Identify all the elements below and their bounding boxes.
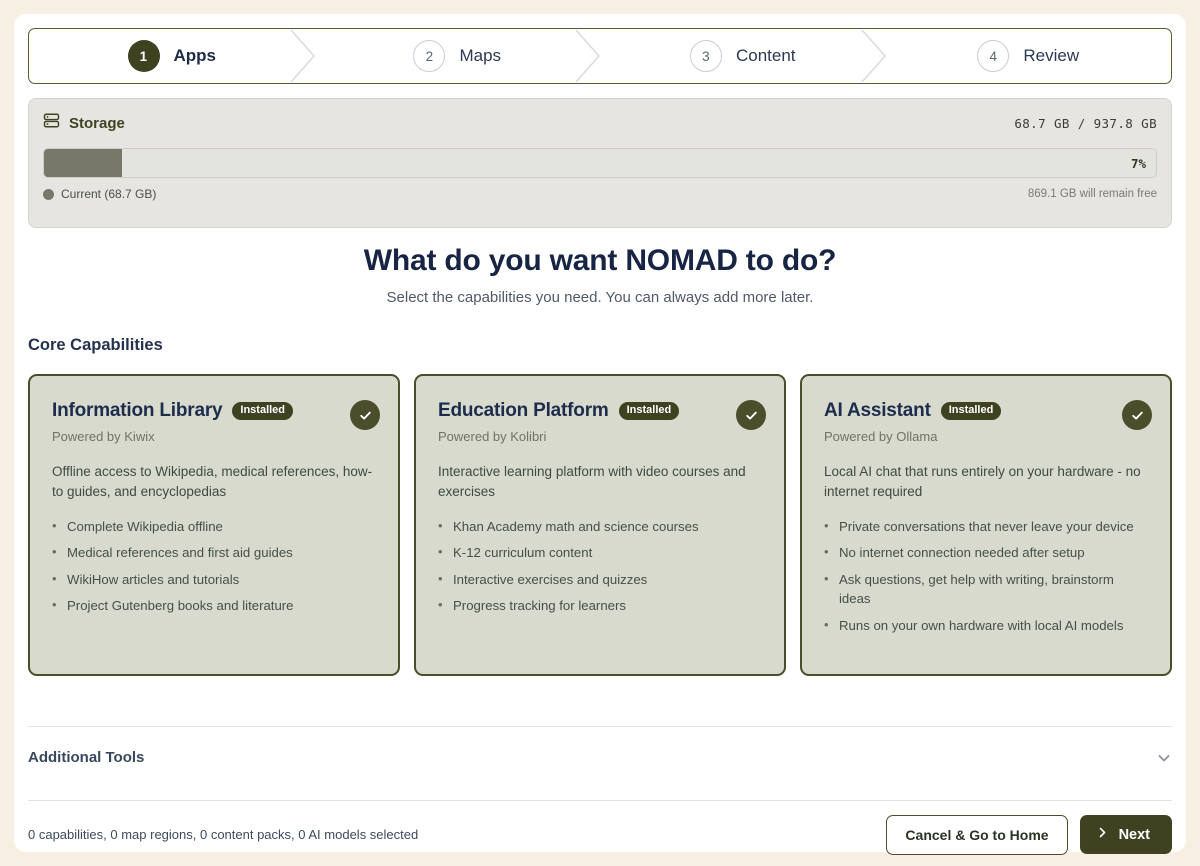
step-maps[interactable]: 2 Maps (315, 29, 601, 83)
list-item: Medical references and first aid guides (52, 543, 376, 562)
step-number-4: 4 (977, 40, 1009, 72)
storage-title-group: Storage (43, 112, 125, 134)
card-title: AI Assistant (824, 400, 931, 422)
chevron-right-icon (1096, 826, 1109, 843)
card-powered-by: Powered by Ollama (824, 429, 1148, 444)
footer-actions: Cancel & Go to Home Next (886, 815, 1172, 855)
additional-tools-accordion[interactable]: Additional Tools (28, 726, 1172, 788)
capability-card-information-library[interactable]: Information Library Installed Powered by… (28, 374, 400, 676)
storage-legend-current: Current (68.7 GB) (43, 187, 156, 201)
list-item: No internet connection needed after setu… (824, 543, 1148, 562)
card-feature-list: Khan Academy math and science courses K-… (438, 517, 762, 616)
list-item: Progress tracking for learners (438, 596, 762, 615)
step-content[interactable]: 3 Content (600, 29, 886, 83)
storage-capacity-text: 68.7 GB / 937.8 GB (1014, 116, 1157, 131)
next-button[interactable]: Next (1080, 815, 1172, 854)
storage-progress-fill (44, 149, 122, 177)
selected-check-icon[interactable] (736, 400, 766, 430)
list-item: Interactive exercises and quizzes (438, 570, 762, 589)
storage-legend: Current (68.7 GB) 869.1 GB will remain f… (43, 187, 1157, 201)
step-label-review: Review (1023, 46, 1079, 66)
list-item: Runs on your own hardware with local AI … (824, 616, 1148, 635)
step-review[interactable]: 4 Review (886, 29, 1172, 83)
wizard-stepper: 1 Apps 2 Maps 3 Content 4 Review (28, 28, 1172, 84)
card-header: Information Library Installed (52, 400, 376, 422)
card-title: Information Library (52, 400, 222, 422)
storage-header: Storage 68.7 GB / 937.8 GB (43, 112, 1157, 134)
step-divider-1 (290, 29, 316, 83)
step-label-maps: Maps (459, 46, 501, 66)
storage-percent-label: 7% (1131, 149, 1146, 177)
app-window: 1 Apps 2 Maps 3 Content 4 Review (14, 14, 1186, 852)
card-powered-by: Powered by Kiwix (52, 429, 376, 444)
list-item: K-12 curriculum content (438, 543, 762, 562)
cancel-button[interactable]: Cancel & Go to Home (886, 815, 1067, 855)
step-label-content: Content (736, 46, 796, 66)
capability-card-ai-assistant[interactable]: AI Assistant Installed Powered by Ollama… (800, 374, 1172, 676)
legend-swatch-icon (43, 189, 54, 200)
wizard-footer: 0 capabilities, 0 map regions, 0 content… (28, 800, 1172, 856)
step-divider-3 (861, 29, 887, 83)
card-powered-by: Powered by Kolibri (438, 429, 762, 444)
list-item: Private conversations that never leave y… (824, 517, 1148, 536)
step-divider-2 (575, 29, 601, 83)
list-item: WikiHow articles and tutorials (52, 570, 376, 589)
page-subtitle: Select the capabilities you need. You ca… (14, 289, 1186, 306)
installed-badge: Installed (619, 402, 680, 420)
card-feature-list: Complete Wikipedia offline Medical refer… (52, 517, 376, 616)
card-title: Education Platform (438, 400, 609, 422)
installed-badge: Installed (232, 402, 293, 420)
additional-tools-label: Additional Tools (28, 749, 144, 766)
next-button-label: Next (1119, 827, 1150, 843)
selected-check-icon[interactable] (350, 400, 380, 430)
section-title-core-capabilities: Core Capabilities (28, 336, 163, 355)
storage-panel: Storage 68.7 GB / 937.8 GB 7% Current (6… (28, 98, 1172, 228)
storage-remaining-note: 869.1 GB will remain free (1028, 188, 1157, 200)
storage-label: Storage (69, 115, 125, 132)
server-storage-icon (43, 112, 60, 134)
capability-card-education-platform[interactable]: Education Platform Installed Powered by … (414, 374, 786, 676)
step-number-2: 2 (413, 40, 445, 72)
list-item: Ask questions, get help with writing, br… (824, 570, 1148, 609)
card-feature-list: Private conversations that never leave y… (824, 517, 1148, 635)
card-header: Education Platform Installed (438, 400, 762, 422)
step-number-1: 1 (128, 40, 160, 72)
card-description: Interactive learning platform with video… (438, 462, 762, 502)
step-number-3: 3 (690, 40, 722, 72)
installed-badge: Installed (941, 402, 1002, 420)
selection-summary: 0 capabilities, 0 map regions, 0 content… (28, 827, 418, 842)
list-item: Khan Academy math and science courses (438, 517, 762, 536)
card-description: Offline access to Wikipedia, medical ref… (52, 462, 376, 502)
chevron-down-icon[interactable] (1156, 750, 1172, 766)
storage-legend-label: Current (68.7 GB) (61, 187, 156, 201)
capability-card-grid: Information Library Installed Powered by… (28, 374, 1172, 676)
card-header: AI Assistant Installed (824, 400, 1148, 422)
storage-progress-bar: 7% (43, 148, 1157, 178)
list-item: Complete Wikipedia offline (52, 517, 376, 536)
card-description: Local AI chat that runs entirely on your… (824, 462, 1148, 502)
list-item: Project Gutenberg books and literature (52, 596, 376, 615)
step-apps[interactable]: 1 Apps (29, 29, 315, 83)
page-title: What do you want NOMAD to do? (14, 244, 1186, 278)
selected-check-icon[interactable] (1122, 400, 1152, 430)
step-label-apps: Apps (174, 46, 217, 66)
